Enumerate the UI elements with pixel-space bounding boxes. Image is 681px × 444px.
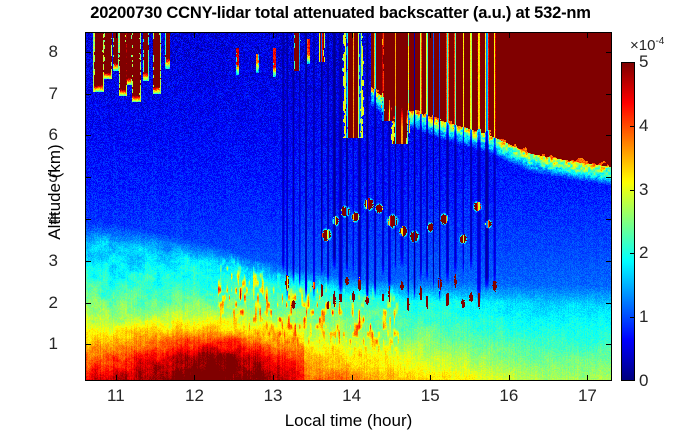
x-tick-label-12: 12 xyxy=(185,386,204,406)
x-tick-top-11 xyxy=(116,32,117,38)
colorbar xyxy=(621,62,635,381)
page-title: 20200730 CCNY-lidar total attenuated bac… xyxy=(0,4,681,23)
colorbar-tick-label-1: 1 xyxy=(639,307,648,327)
y-tick-4 xyxy=(85,219,91,220)
x-axis-label: Local time (hour) xyxy=(85,411,612,431)
y-tick-right-2 xyxy=(606,303,612,304)
x-tick-top-16 xyxy=(509,32,510,38)
y-tick-right-7 xyxy=(606,94,612,95)
x-tick-label-11: 11 xyxy=(107,386,125,406)
x-tick-top-13 xyxy=(273,32,274,38)
x-tick-label-16: 16 xyxy=(499,386,518,406)
backscatter-heatmap xyxy=(86,33,611,380)
colorbar-tick-3 xyxy=(630,190,635,191)
x-tick-label-15: 15 xyxy=(421,386,440,406)
x-tick-top-12 xyxy=(194,32,195,38)
colorbar-tick-label-3: 3 xyxy=(639,180,648,200)
x-tick-12 xyxy=(194,375,195,381)
x-tick-top-14 xyxy=(352,32,353,38)
y-tick-right-8 xyxy=(606,52,612,53)
y-tick-5 xyxy=(85,177,91,178)
y-tick-right-6 xyxy=(606,135,612,136)
y-tick-3 xyxy=(85,261,91,262)
colorbar-tick-4 xyxy=(630,126,635,127)
x-tick-label-14: 14 xyxy=(342,386,361,406)
colorbar-exponent-power: -4 xyxy=(655,36,664,47)
colorbar-tick-label-0: 0 xyxy=(639,371,648,391)
colorbar-tick-label-5: 5 xyxy=(639,52,648,72)
x-tick-14 xyxy=(352,375,353,381)
x-tick-top-15 xyxy=(430,32,431,38)
x-tick-label-13: 13 xyxy=(264,386,283,406)
x-tick-13 xyxy=(273,375,274,381)
colorbar-tick-2 xyxy=(630,253,635,254)
colorbar-gradient xyxy=(622,63,634,380)
heatmap-axes xyxy=(85,32,612,381)
y-axis-label: Altitude (km) xyxy=(45,42,65,342)
colorbar-tick-1 xyxy=(630,317,635,318)
lidar-backscatter-figure: 20200730 CCNY-lidar total attenuated bac… xyxy=(0,0,681,444)
y-tick-8 xyxy=(85,52,91,53)
y-tick-1 xyxy=(85,344,91,345)
y-tick-right-1 xyxy=(606,344,612,345)
x-tick-11 xyxy=(116,375,117,381)
x-tick-16 xyxy=(509,375,510,381)
y-tick-6 xyxy=(85,135,91,136)
y-tick-right-4 xyxy=(606,219,612,220)
x-tick-top-17 xyxy=(587,32,588,38)
y-tick-right-5 xyxy=(606,177,612,178)
colorbar-tick-label-2: 2 xyxy=(639,243,648,263)
y-tick-right-3 xyxy=(606,261,612,262)
x-tick-label-17: 17 xyxy=(578,386,597,406)
y-tick-2 xyxy=(85,303,91,304)
colorbar-tick-label-4: 4 xyxy=(639,116,648,136)
x-tick-15 xyxy=(430,375,431,381)
x-tick-17 xyxy=(587,375,588,381)
y-tick-7 xyxy=(85,94,91,95)
